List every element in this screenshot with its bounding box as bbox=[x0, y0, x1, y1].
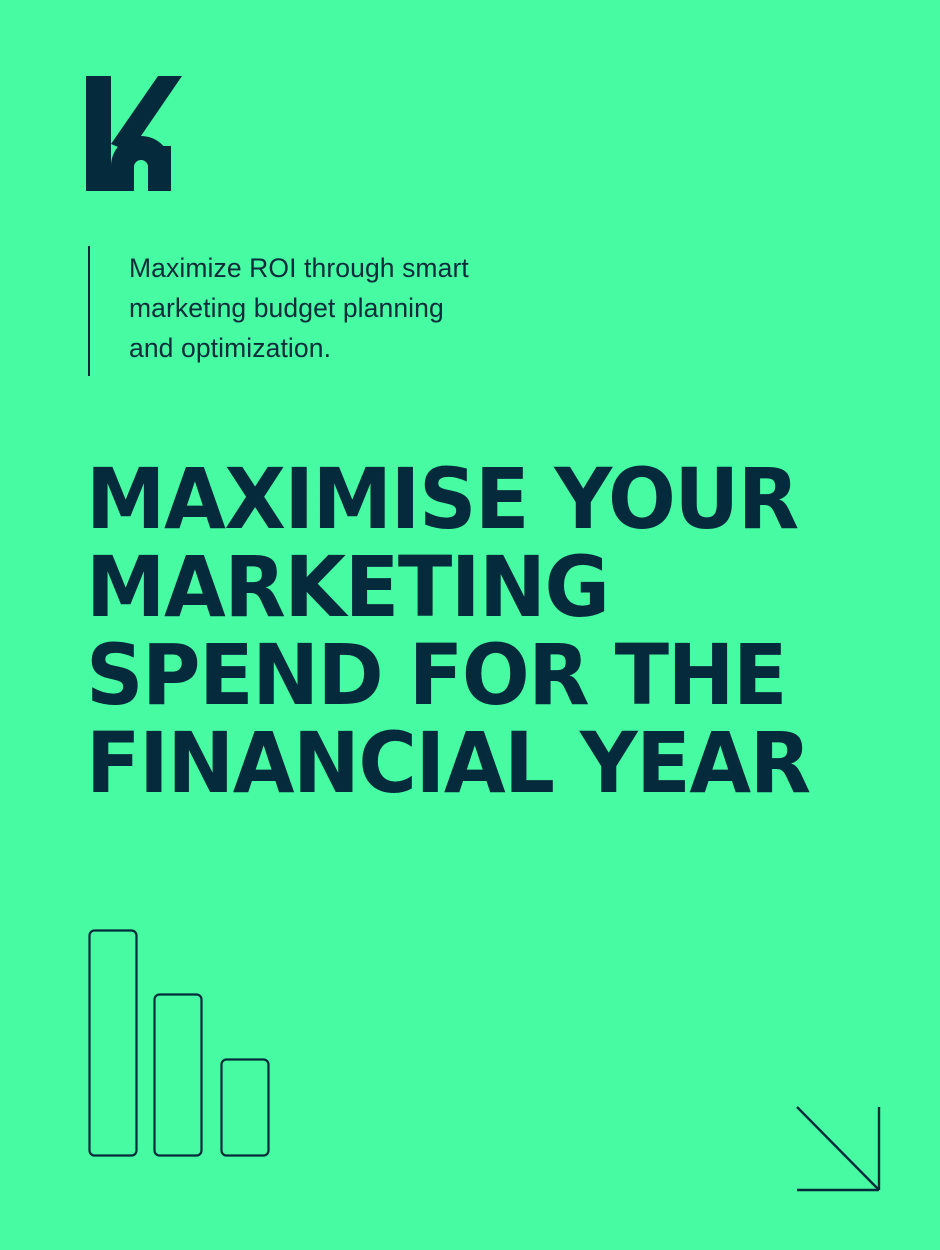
headline-line-4: FINANCIAL YEAR bbox=[86, 719, 846, 807]
poster-canvas: Maximize ROI through smart marketing bud… bbox=[0, 0, 940, 1250]
headline-line-3: SPEND FOR THE bbox=[86, 631, 846, 719]
headline: MAXIMISE YOUR MARKETING SPEND FOR THE FI… bbox=[86, 455, 886, 807]
subheading-text: Maximize ROI through smart marketing bud… bbox=[129, 248, 469, 376]
bar-1 bbox=[90, 931, 137, 1156]
bar-chart-graphic bbox=[88, 928, 278, 1158]
k-monogram-logo bbox=[86, 76, 182, 191]
headline-line-2: MARKETING bbox=[86, 543, 846, 631]
bar-2 bbox=[155, 995, 202, 1156]
subheading-vertical-rule bbox=[88, 246, 90, 376]
headline-line-1: MAXIMISE YOUR bbox=[86, 455, 846, 543]
bar-3 bbox=[222, 1060, 269, 1156]
subheading-block: Maximize ROI through smart marketing bud… bbox=[88, 246, 469, 376]
arrow-down-right-icon bbox=[795, 1105, 883, 1195]
